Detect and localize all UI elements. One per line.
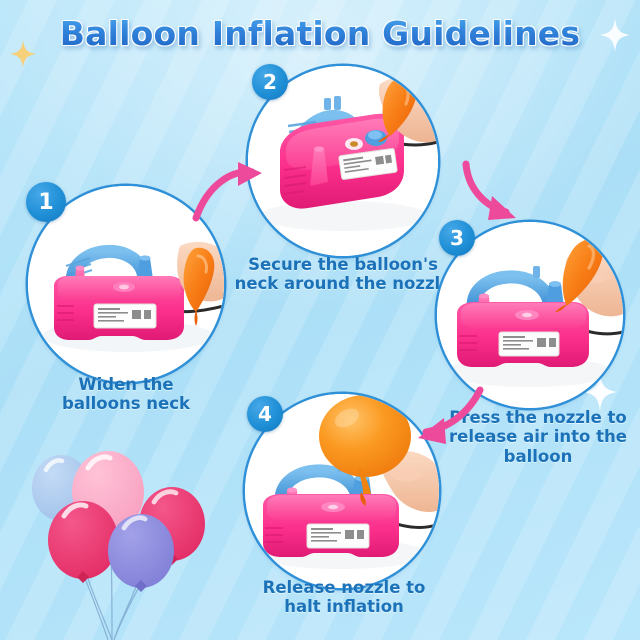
step-panel-3: 3 (437, 222, 623, 408)
balloon-purple (108, 514, 174, 592)
step-1-badge: 1 (26, 182, 66, 222)
page-title: Balloon Inflation Guidelines (60, 14, 580, 53)
step-1-caption-line-1: Widen the (18, 375, 234, 394)
step-4-caption: Release nozzle to halt inflation (238, 578, 450, 617)
arrow-step3-to-step4-icon (396, 386, 486, 453)
arrow-step2-to-step3-icon (462, 158, 540, 233)
balloon-bouquet-decoration (24, 448, 210, 640)
infographic-canvas: Balloon Inflation Guidelines (0, 0, 640, 640)
title-container: Balloon Inflation Guidelines (0, 14, 640, 53)
step-1-caption: Widen the balloons neck (18, 375, 234, 414)
step-1-caption-line-2: balloons neck (18, 394, 234, 413)
step-4-caption-line-2: halt inflation (238, 597, 450, 616)
step-4-caption-line-1: Release nozzle to (238, 578, 450, 597)
step-4-badge: 4 (247, 396, 283, 432)
step-3-badge: 3 (439, 220, 475, 256)
step-2-caption: Secure the balloon's neck around the noz… (232, 255, 454, 294)
step-2-caption-line-1: Secure the balloon's (232, 255, 454, 274)
step-2-badge: 2 (252, 64, 288, 100)
step-2-caption-line-2: neck around the nozzle (232, 274, 454, 293)
arrow-step1-to-step2-icon (192, 160, 270, 231)
balloon-crimson-left (48, 501, 118, 583)
step-panel-2: 2 (248, 66, 438, 256)
